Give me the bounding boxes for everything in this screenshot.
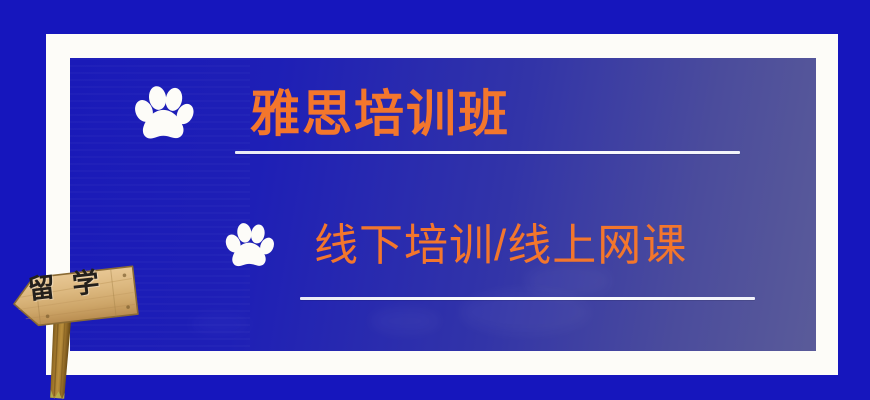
background-artifact [370,308,440,334]
subtitle-underline [300,297,755,300]
paw-print-icon [220,218,276,274]
wooden-signpost: 留 学 [0,252,154,400]
title-underline [235,151,740,154]
wooden-signpost-icon [0,252,154,400]
title-row: 雅思培训班 [128,80,510,148]
paw-print-icon [128,80,196,148]
banner-panel: 雅思培训班 线下培训/线上网课 [70,58,816,351]
promo-banner: 雅思培训班 线下培训/线上网课 [0,0,870,400]
background-artifact [190,313,250,335]
banner-subtitle: 线下培训/线上网课 [314,224,687,268]
subtitle-row: 线下培训/线上网课 [220,218,687,274]
banner-title: 雅思培训班 [250,89,510,139]
